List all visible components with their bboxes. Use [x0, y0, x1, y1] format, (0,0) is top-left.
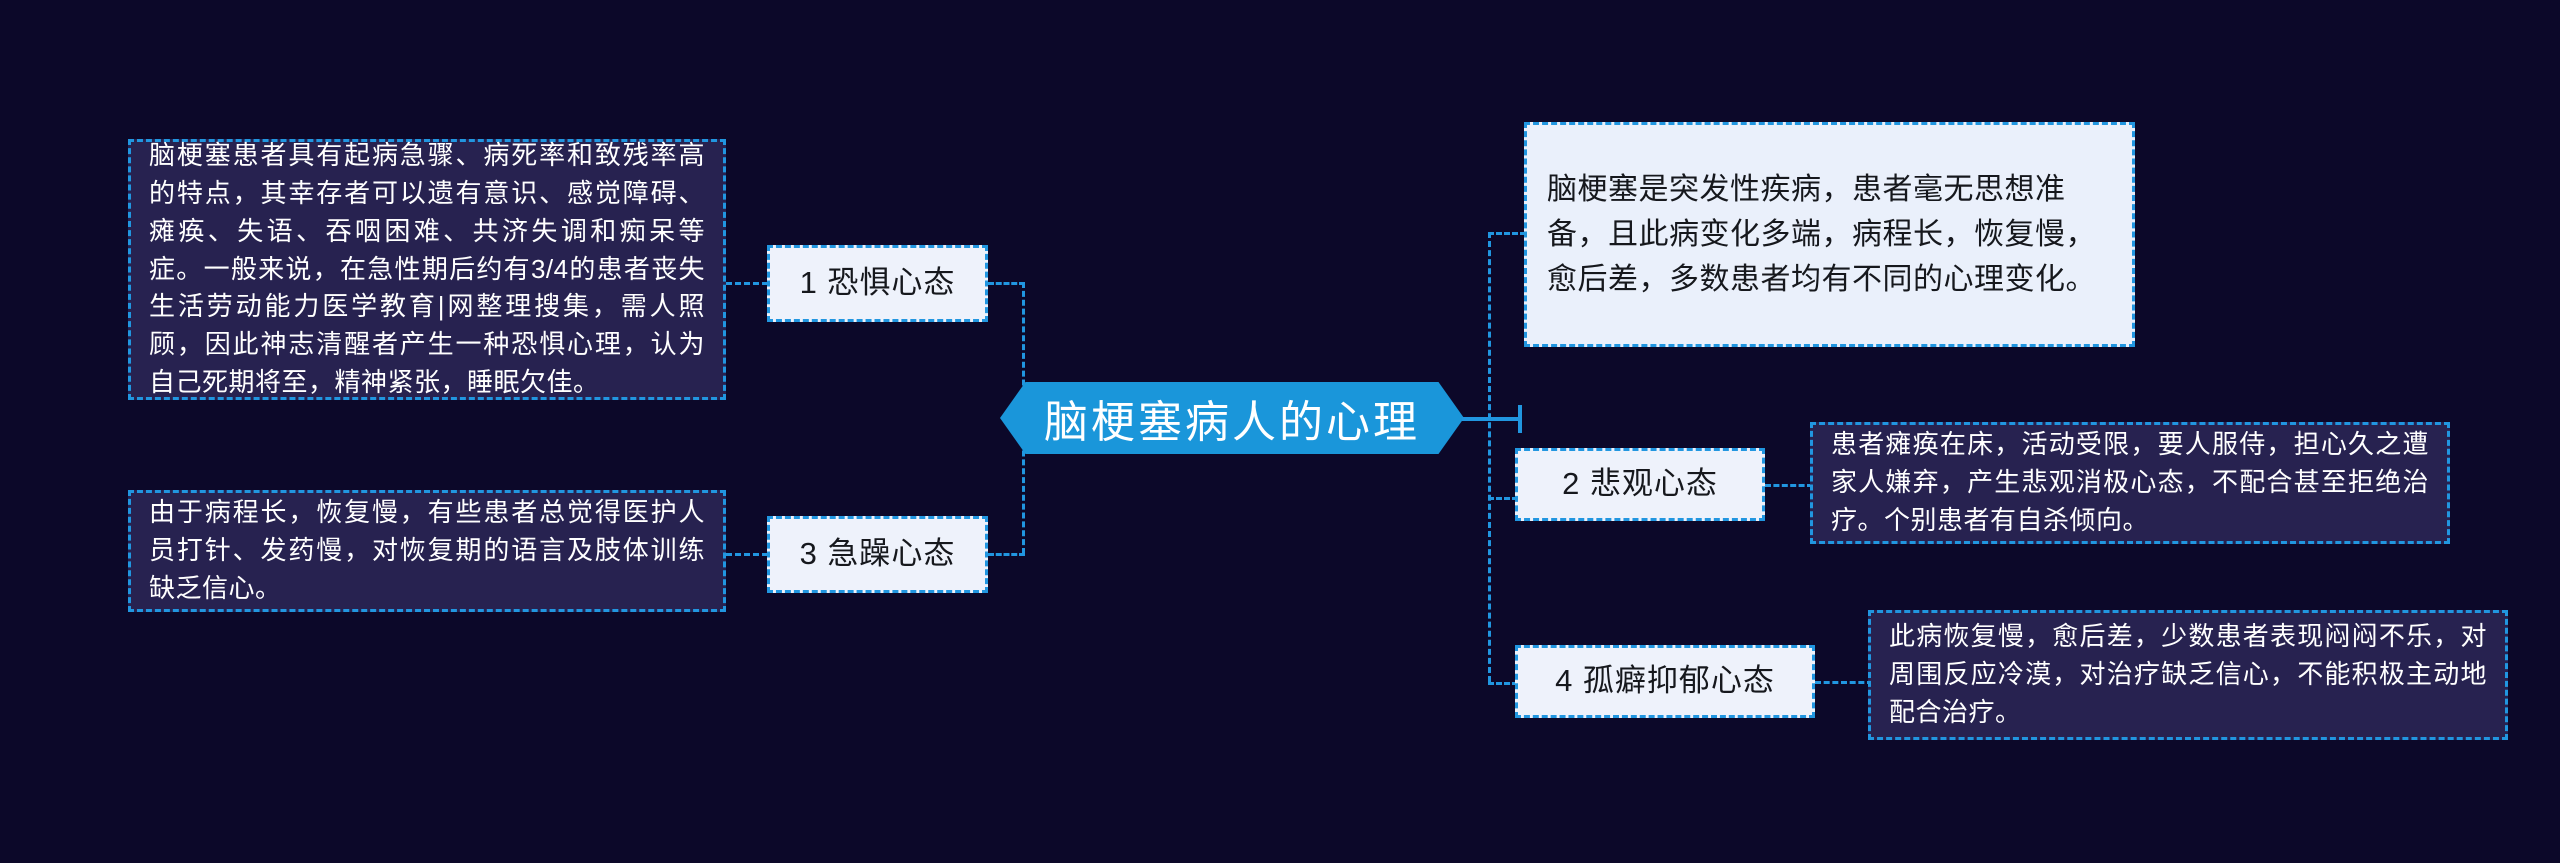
branch-label-pessimism-text: 2 悲观心态	[1562, 462, 1718, 506]
intro-box: 脑梗塞是突发性疾病，患者毫无思想准备，且此病变化多端，病程长，恢复慢，愈后差，多…	[1524, 122, 2135, 347]
connector-fear-desc-to-label	[726, 282, 768, 285]
mindmap-canvas: 脑梗塞患者具有起病急骤、病死率和致残率高的特点，其幸存者可以遗有意识、感觉障碍、…	[0, 0, 2560, 863]
connector-right-stub-intro	[1488, 232, 1526, 235]
connector-impatience-desc-to-label	[726, 553, 768, 556]
branch-description-withdrawn-text: 此病恢复慢，愈后差，少数患者表现闷闷不乐，对周围反应冷漠，对治疗缺乏信心，不能积…	[1889, 618, 2487, 732]
branch-description-impatience-text: 由于病程长，恢复慢，有些患者总觉得医护人员打针、发药慢，对恢复期的语言及肢体训练…	[149, 494, 705, 608]
center-node[interactable]: 脑梗塞病人的心理	[1000, 382, 1464, 454]
connector-left-stub-impatience	[988, 553, 1025, 556]
branch-description-withdrawn: 此病恢复慢，愈后差，少数患者表现闷闷不乐，对周围反应冷漠，对治疗缺乏信心，不能积…	[1868, 610, 2508, 740]
branch-label-pessimism[interactable]: 2 悲观心态	[1515, 448, 1765, 521]
branch-description-fear: 脑梗塞患者具有起病急骤、病死率和致残率高的特点，其幸存者可以遗有意识、感觉障碍、…	[128, 139, 726, 400]
branch-description-pessimism: 患者瘫痪在床，活动受限，要人服侍，担心久之遭家人嫌弃，产生悲观消极心态，不配合甚…	[1810, 422, 2450, 544]
connector-pessimism-label-to-desc	[1765, 484, 1813, 487]
connector-withdrawn-label-to-desc	[1815, 681, 1873, 684]
branch-label-fear-text: 1 恐惧心态	[800, 261, 956, 305]
connector-left-stub-fear	[988, 282, 1025, 285]
branch-label-impatience-text: 3 急躁心态	[800, 532, 956, 576]
branch-label-withdrawn[interactable]: 4 孤癖抑郁心态	[1515, 645, 1815, 718]
connector-center-to-right	[1462, 417, 1522, 421]
branch-description-pessimism-text: 患者瘫痪在床，活动受限，要人服侍，担心久之遭家人嫌弃，产生悲观消极心态，不配合甚…	[1831, 426, 2429, 540]
connector-right-spine	[1488, 232, 1491, 682]
branch-label-impatience[interactable]: 3 急躁心态	[767, 516, 988, 593]
connector-right-tee	[1518, 405, 1522, 433]
branch-label-withdrawn-text: 4 孤癖抑郁心态	[1555, 659, 1775, 703]
center-node-label: 脑梗塞病人的心理	[1044, 386, 1420, 450]
branch-description-fear-text: 脑梗塞患者具有起病急骤、病死率和致残率高的特点，其幸存者可以遗有意识、感觉障碍、…	[149, 137, 705, 403]
intro-text: 脑梗塞是突发性疾病，患者毫无思想准备，且此病变化多端，病程长，恢复慢，愈后差，多…	[1547, 167, 2112, 302]
branch-label-fear[interactable]: 1 恐惧心态	[767, 245, 988, 322]
branch-description-impatience: 由于病程长，恢复慢，有些患者总觉得医护人员打针、发药慢，对恢复期的语言及肢体训练…	[128, 490, 726, 612]
